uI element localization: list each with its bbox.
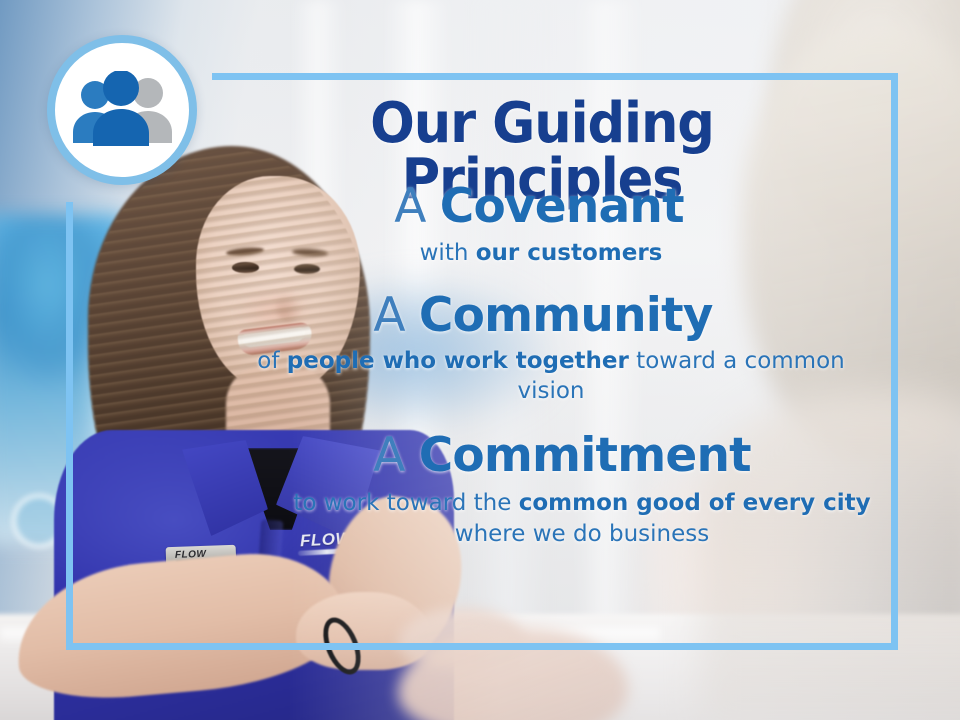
principle-commitment-subtitle: to work toward the common good of every …	[200, 488, 878, 550]
principle-community-title: A Community	[200, 291, 878, 342]
principle-covenant-subtitle: with our customers	[200, 239, 878, 269]
principle-community-lead: A	[373, 288, 404, 343]
principle-commitment-title: A Commitment	[200, 431, 878, 482]
principle-community: A Community of people who work together …	[200, 291, 878, 408]
principle-commitment-lead: A	[373, 428, 404, 483]
principle-community-word: Community	[419, 288, 713, 343]
principle-commitment: A Commitment to work toward the common g…	[200, 431, 878, 549]
principles-list: A Covenant with our customers A Communit…	[200, 182, 878, 556]
principle-commitment-word: Commitment	[419, 428, 751, 483]
principle-covenant: A Covenant with our customers	[200, 182, 878, 269]
guiding-principles-graphic: FLOW FLOW	[0, 0, 960, 720]
principle-community-subtitle: of people who work together toward a com…	[200, 347, 878, 407]
people-badge	[47, 35, 197, 185]
principle-covenant-lead: A	[394, 179, 425, 234]
principle-covenant-word: Covenant	[440, 179, 684, 234]
principle-covenant-title: A Covenant	[200, 182, 878, 233]
people-group-icon	[66, 71, 178, 149]
